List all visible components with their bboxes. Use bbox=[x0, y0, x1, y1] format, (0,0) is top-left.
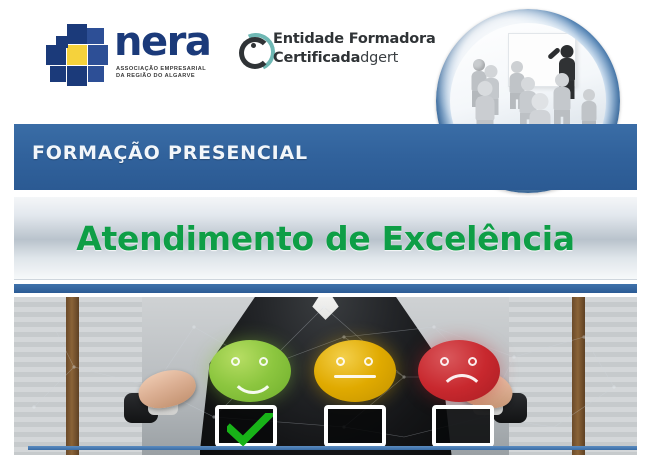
face-happy[interactable] bbox=[209, 340, 291, 402]
satisfaction-faces bbox=[14, 340, 637, 402]
photo-bottom-line bbox=[28, 446, 637, 450]
checkbox-neutral[interactable] bbox=[324, 405, 386, 447]
flyer-page: nera ASSOCIAÇÃO EMPRESARIAL DA REGIÃO DO… bbox=[0, 0, 650, 464]
checkbox-sad[interactable] bbox=[432, 405, 494, 447]
satisfaction-checkboxes bbox=[14, 405, 637, 451]
dgert-line2: Certificadadgert bbox=[273, 49, 436, 68]
header: nera ASSOCIAÇÃO EMPRESARIAL DA REGIÃO DO… bbox=[0, 0, 650, 124]
page-title: Atendimento de Excelência bbox=[76, 219, 574, 258]
cross-logo-icon bbox=[46, 24, 108, 86]
band-formacao-presencial: FORMAÇÃO PRESENCIAL bbox=[14, 124, 637, 190]
dgert-badge: Entidade Formadora Certificadadgert bbox=[237, 30, 432, 72]
check-icon bbox=[227, 413, 273, 447]
band-course-title: Atendimento de Excelência bbox=[14, 197, 637, 280]
attendee-figure bbox=[550, 73, 574, 127]
face-neutral[interactable] bbox=[314, 340, 396, 402]
formacao-presencial-label: FORMAÇÃO PRESENCIAL bbox=[32, 142, 308, 164]
blue-divider-strip bbox=[14, 284, 637, 293]
checkbox-happy[interactable] bbox=[215, 405, 277, 447]
nera-tagline-line2: DA REGIÃO DO ALGARVE bbox=[116, 73, 246, 80]
dgert-text: Entidade Formadora Certificadadgert bbox=[273, 30, 436, 68]
dgert-line2-bold: Certificada bbox=[273, 50, 360, 66]
nera-wordmark: nera bbox=[114, 22, 210, 62]
dgert-circle-icon bbox=[237, 33, 267, 63]
face-sad[interactable] bbox=[418, 340, 500, 402]
dgert-line2-light: dgert bbox=[360, 50, 398, 66]
nera-tagline: ASSOCIAÇÃO EMPRESARIAL DA REGIÃO DO ALGA… bbox=[116, 66, 246, 81]
nera-logo: nera ASSOCIAÇÃO EMPRESARIAL DA REGIÃO DO… bbox=[46, 24, 216, 86]
satisfaction-photo bbox=[14, 297, 637, 455]
dgert-line1: Entidade Formadora bbox=[273, 30, 436, 49]
